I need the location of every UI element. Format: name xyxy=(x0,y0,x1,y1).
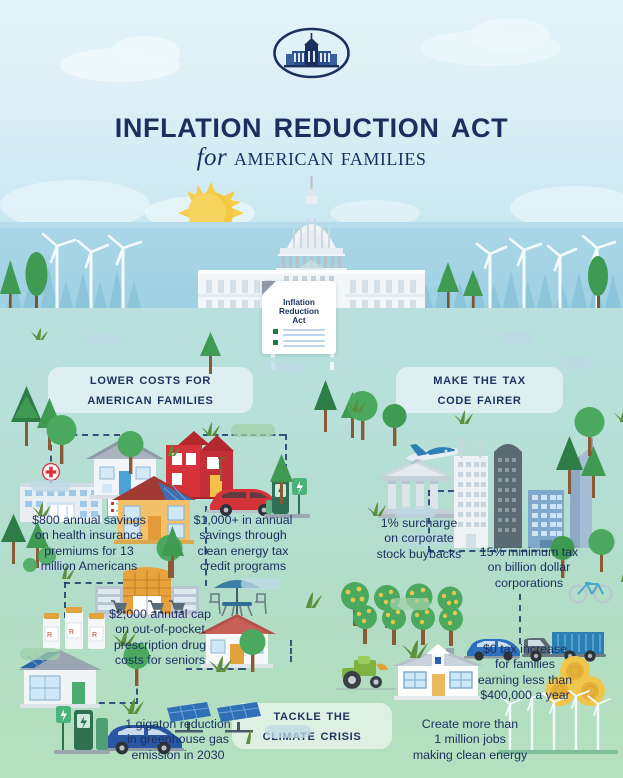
stat-line: million Americans xyxy=(14,559,164,574)
infographic-poster: Inflation Reduction Act for American Fam… xyxy=(0,0,623,778)
stat-line: on health insurance xyxy=(14,528,164,543)
page-title: Inflation Reduction Act xyxy=(0,103,623,147)
subtitle-for: for xyxy=(197,144,228,171)
stat-line: 1% surcharge xyxy=(354,516,484,531)
stat-line: clean energy tax xyxy=(172,544,314,559)
stat-clean-energy-jobs: Create more than 1 million jobs making c… xyxy=(400,717,540,763)
stat-line: making clean energy xyxy=(400,748,540,763)
stat-line: savings through xyxy=(172,528,314,543)
stat-line: credit programs xyxy=(172,559,314,574)
stat-line: in greenhouse gas xyxy=(112,732,244,747)
stat-line: 1 million jobs xyxy=(400,732,540,747)
stat-greenhouse-gas-reduction: 1 gigaton reduction in greenhouse gas em… xyxy=(112,717,244,763)
stat-line: Create more than xyxy=(400,717,540,732)
stat-line: for families xyxy=(456,657,594,672)
stat-line: costs for seniors xyxy=(95,653,225,668)
stat-line: on out-of-pocket xyxy=(95,622,225,637)
stat-line: emission in 2030 xyxy=(112,748,244,763)
stat-line: $1,000+ in annual xyxy=(172,513,314,528)
stat-no-tax-increase: $0 tax increase for families earning les… xyxy=(456,642,594,704)
stat-line: on billion dollar xyxy=(462,560,596,575)
stat-health-insurance-savings: $800 annual savings on health insurance … xyxy=(14,513,164,575)
stat-line: prescription drug xyxy=(95,638,225,653)
subtitle-rest: American Families xyxy=(234,144,426,171)
stat-line: $400,000 a year xyxy=(456,688,594,703)
stat-clean-energy-tax-credit: $1,000+ in annual savings through clean … xyxy=(172,513,314,575)
stat-line: 15% minimum tax xyxy=(462,545,596,560)
page-subtitle: for American Families xyxy=(0,144,623,172)
stat-line: premiums for 13 xyxy=(14,544,164,559)
cloud-icon xyxy=(110,36,180,70)
stat-line: $800 annual savings xyxy=(14,513,164,528)
cloud-icon xyxy=(470,18,550,52)
stat-line: earning less than xyxy=(456,673,594,688)
stat-line: $2,000 annual cap xyxy=(95,607,225,622)
stat-line: 1 gigaton reduction xyxy=(112,717,244,732)
stat-line: $0 tax increase xyxy=(456,642,594,657)
stat-line: corporations xyxy=(462,576,596,591)
white-house-seal-icon xyxy=(272,27,351,79)
stat-prescription-drug-cap: $2,000 annual cap on out-of-pocket presc… xyxy=(95,607,225,669)
stat-minimum-corporate-tax: 15% minimum tax on billion dollar corpor… xyxy=(462,545,596,591)
